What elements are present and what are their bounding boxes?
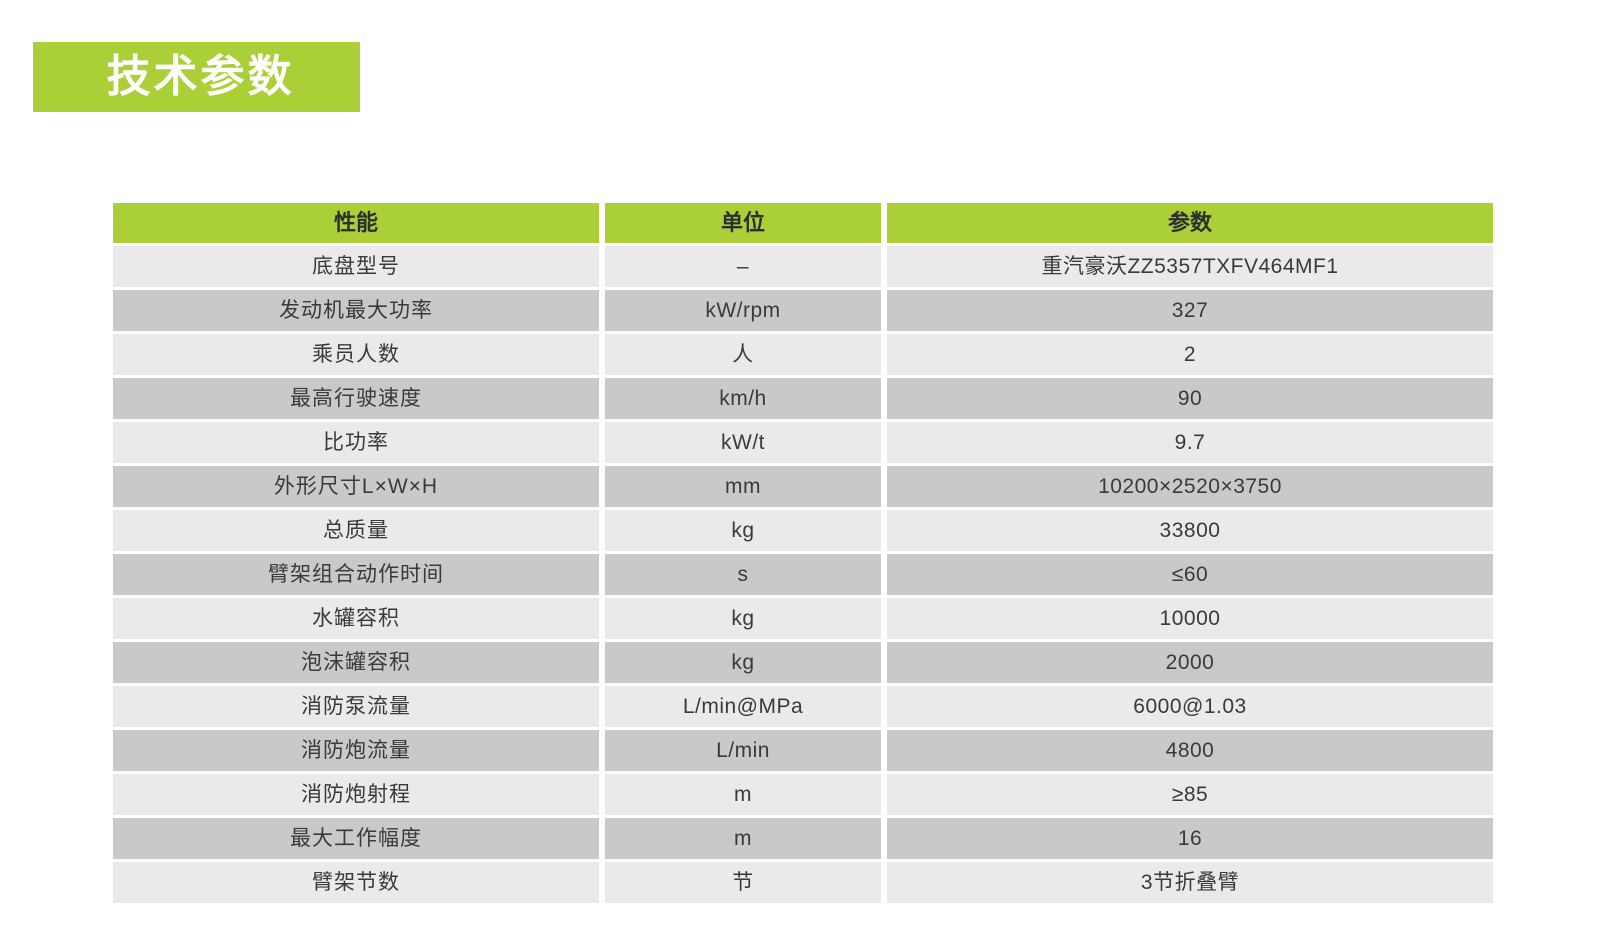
cell-unit: kg	[605, 510, 881, 551]
column-header-performance: 性能	[113, 203, 599, 243]
table-header-row: 性能 单位 参数	[113, 203, 1493, 243]
cell-parameter: 3节折叠臂	[887, 862, 1493, 903]
cell-parameter: ≥85	[887, 774, 1493, 815]
cell-parameter: 90	[887, 378, 1493, 419]
cell-unit: 节	[605, 862, 881, 903]
cell-unit: km/h	[605, 378, 881, 419]
cell-performance: 泡沫罐容积	[113, 642, 599, 683]
table-row: 底盘型号–重汽豪沃ZZ5357TXFV464MF1	[113, 246, 1493, 287]
cell-performance: 消防炮射程	[113, 774, 599, 815]
column-header-parameter: 参数	[887, 203, 1493, 243]
table-row: 发动机最大功率kW/rpm327	[113, 290, 1493, 331]
cell-parameter: 9.7	[887, 422, 1493, 463]
cell-unit: kg	[605, 642, 881, 683]
cell-unit: 人	[605, 334, 881, 375]
cell-unit: m	[605, 818, 881, 859]
table-row: 最大工作幅度m16	[113, 818, 1493, 859]
table-row: 水罐容积kg10000	[113, 598, 1493, 639]
cell-performance: 乘员人数	[113, 334, 599, 375]
cell-performance: 臂架组合动作时间	[113, 554, 599, 595]
cell-performance: 消防泵流量	[113, 686, 599, 727]
cell-performance: 发动机最大功率	[113, 290, 599, 331]
cell-unit: mm	[605, 466, 881, 507]
cell-parameter: 4800	[887, 730, 1493, 771]
cell-performance: 总质量	[113, 510, 599, 551]
cell-unit: m	[605, 774, 881, 815]
cell-parameter: 10000	[887, 598, 1493, 639]
table-row: 泡沫罐容积kg2000	[113, 642, 1493, 683]
cell-parameter: 10200×2520×3750	[887, 466, 1493, 507]
cell-parameter: 16	[887, 818, 1493, 859]
table-row: 消防炮射程m≥85	[113, 774, 1493, 815]
cell-parameter: 327	[887, 290, 1493, 331]
cell-performance: 水罐容积	[113, 598, 599, 639]
table-row: 最高行驶速度km/h90	[113, 378, 1493, 419]
table-row: 比功率kW/t9.7	[113, 422, 1493, 463]
cell-performance: 臂架节数	[113, 862, 599, 903]
cell-unit: kg	[605, 598, 881, 639]
cell-unit: –	[605, 246, 881, 287]
page-title: 技术参数	[99, 55, 295, 99]
table-row: 消防炮流量L/min4800	[113, 730, 1493, 771]
cell-performance: 比功率	[113, 422, 599, 463]
cell-parameter: 2	[887, 334, 1493, 375]
cell-parameter: ≤60	[887, 554, 1493, 595]
cell-unit: kW/rpm	[605, 290, 881, 331]
cell-performance: 最大工作幅度	[113, 818, 599, 859]
table-row: 总质量kg33800	[113, 510, 1493, 551]
column-header-unit: 单位	[605, 203, 881, 243]
cell-performance: 外形尺寸L×W×H	[113, 466, 599, 507]
cell-performance: 消防炮流量	[113, 730, 599, 771]
technical-specifications-table: 性能 单位 参数 底盘型号–重汽豪沃ZZ5357TXFV464MF1发动机最大功…	[107, 200, 1499, 906]
section-title-banner: 技术参数	[33, 42, 360, 112]
table-row: 外形尺寸L×W×Hmm10200×2520×3750	[113, 466, 1493, 507]
cell-parameter: 33800	[887, 510, 1493, 551]
table-row: 乘员人数人2	[113, 334, 1493, 375]
cell-unit: L/min@MPa	[605, 686, 881, 727]
cell-parameter: 2000	[887, 642, 1493, 683]
cell-performance: 最高行驶速度	[113, 378, 599, 419]
cell-performance: 底盘型号	[113, 246, 599, 287]
cell-parameter: 重汽豪沃ZZ5357TXFV464MF1	[887, 246, 1493, 287]
table-row: 臂架节数节3节折叠臂	[113, 862, 1493, 903]
table-body: 底盘型号–重汽豪沃ZZ5357TXFV464MF1发动机最大功率kW/rpm32…	[113, 246, 1493, 903]
table-row: 臂架组合动作时间s≤60	[113, 554, 1493, 595]
cell-unit: kW/t	[605, 422, 881, 463]
table-row: 消防泵流量L/min@MPa6000@1.03	[113, 686, 1493, 727]
cell-parameter: 6000@1.03	[887, 686, 1493, 727]
cell-unit: L/min	[605, 730, 881, 771]
cell-unit: s	[605, 554, 881, 595]
table-header: 性能 单位 参数	[113, 203, 1493, 243]
